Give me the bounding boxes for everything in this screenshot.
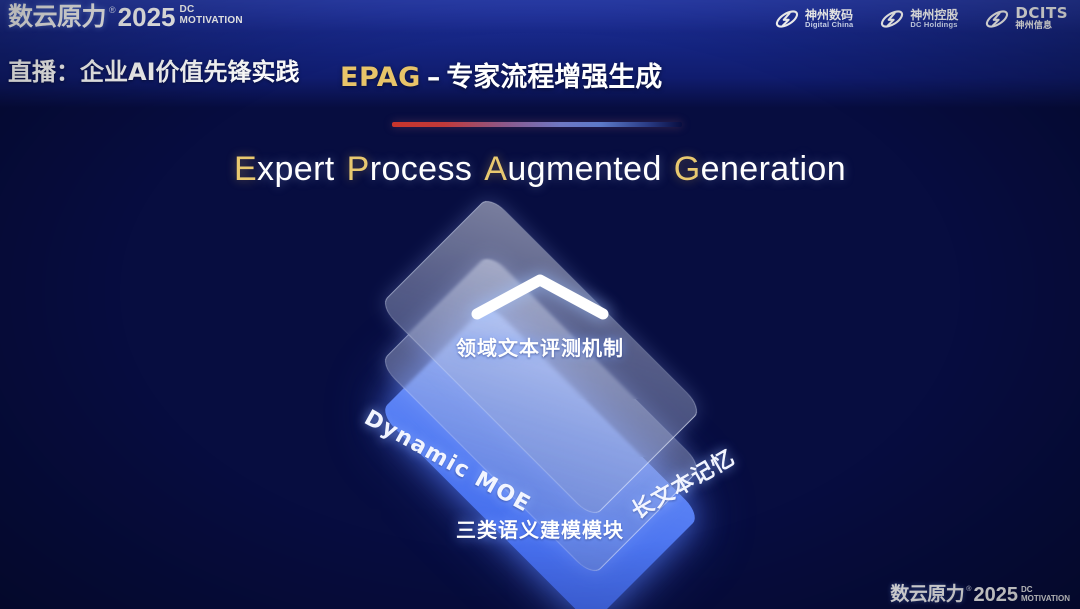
expansion-word-3-cap: A [484,150,507,188]
partner-logo-dc-holdings: 神州控股 DC Holdings [879,6,958,32]
partner-name-cn: DCITS [1015,6,1068,22]
expansion-word-1-rest: xpert [257,150,335,188]
slide-title-acronym: EPAG [340,62,421,93]
partner-name-en: 神州信息 [1015,22,1068,31]
layer-stack-diagram: 领域文本评测机制 Dynamic MOE 长文本记忆 三类语义建模模块 [300,228,780,578]
brand-dc-block: DC MOTIVATION [180,5,243,26]
watermark-registered-mark: ® [966,586,971,593]
partner-label: DCITS 神州信息 [1015,6,1068,31]
live-subtitle: 直播：企业AI价值先锋实践 [8,52,300,87]
partner-logo-digital-china: 神州数码 Digital China [774,6,853,32]
brand-dc-line2: MOTIVATION [180,16,243,26]
slide-canvas: 数云原力 ® 2025 DC MOTIVATION 直播：企业AI价值先锋实践 … [0,0,1080,609]
brand-name-cn: 数云原力 [8,4,106,29]
brand-dc-line1: DC [180,5,243,15]
watermark-dc-block: DC MOTIVATION [1021,586,1070,603]
expansion-word-4-rest: eneration [701,150,846,188]
swirl-logo-icon [879,6,905,32]
slide-title-cn: 专家流程增强生成 [446,62,662,93]
brand-registered-mark: ® [109,6,116,15]
partner-name-en: DC Holdings [910,21,958,29]
watermark-name-cn: 数云原力 [890,585,964,604]
brand-logo: 数云原力 ® 2025 DC MOTIVATION [8,4,243,30]
expansion-word-2-rest: rocess [370,150,473,188]
expansion-word-1-cap: E [234,150,257,188]
slide-title: EPAG–专家流程增强生成 [340,55,662,94]
partner-logo-group: 神州数码 Digital China 神州控股 DC Holdings DCIT… [774,6,1068,32]
swirl-logo-icon [774,6,800,32]
partner-label: 神州控股 DC Holdings [910,9,958,29]
watermark-year: 2025 [973,585,1018,605]
acronym-expansion: ExpertProcessAugmentedGeneration [0,150,1080,189]
watermark-dc-line1: DC [1021,586,1070,594]
partner-name-en: Digital China [805,21,853,29]
partner-logo-dcits: DCITS 神州信息 [984,6,1068,32]
watermark-dc-line2: MOTIVATION [1021,595,1070,603]
expansion-word-3-rest: ugmented [507,150,661,188]
partner-label: 神州数码 Digital China [805,9,853,29]
slide-title-dash: – [427,62,441,93]
expansion-word-4-cap: G [674,150,701,188]
expansion-word-2-cap: P [347,150,370,188]
brand-year: 2025 [118,4,176,30]
gradient-divider [392,122,682,127]
bottom-watermark-logo: 数云原力 ® 2025 DC MOTIVATION [890,585,1070,605]
swirl-logo-icon [984,6,1010,32]
